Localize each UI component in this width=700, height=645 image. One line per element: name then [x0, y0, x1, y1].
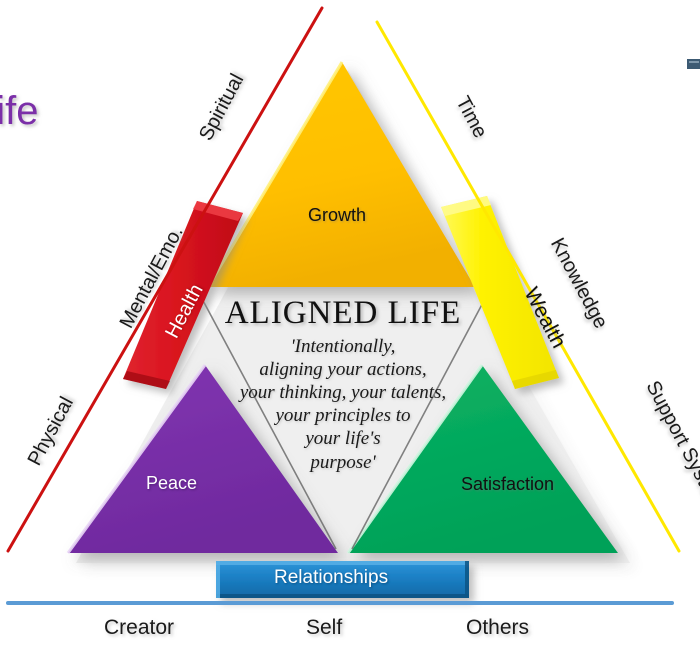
- center-quote: 'Intentionally, aligning your actions, y…: [198, 335, 488, 474]
- quote-line: purpose': [198, 451, 488, 474]
- quote-line: your life's: [198, 427, 488, 450]
- axis-label-others: Others: [466, 616, 529, 640]
- peace-triangle-label: Peace: [146, 473, 197, 494]
- quote-line: your thinking, your talents,: [198, 381, 488, 404]
- quote-line: your principles to: [198, 404, 488, 427]
- center-text-block: ALIGNED LIFE 'Intentionally, aligning yo…: [198, 296, 488, 474]
- growth-triangle: [208, 62, 475, 287]
- page-title: Life: [0, 89, 39, 134]
- axis-label-creator: Creator: [104, 616, 174, 640]
- axis-label-self: Self: [306, 616, 342, 640]
- corner-marker-icon: [687, 59, 700, 69]
- quote-line: 'Intentionally,: [198, 335, 488, 358]
- center-heading: ALIGNED LIFE: [198, 296, 488, 331]
- quote-line: aligning your actions,: [198, 358, 488, 381]
- relationships-bar-label: Relationships: [274, 567, 388, 589]
- aligned-life-diagram: Life Spiritual Mental/Emo. Physical Time…: [0, 0, 700, 645]
- satisfaction-triangle-label: Satisfaction: [461, 474, 554, 495]
- growth-triangle-label: Growth: [308, 205, 366, 226]
